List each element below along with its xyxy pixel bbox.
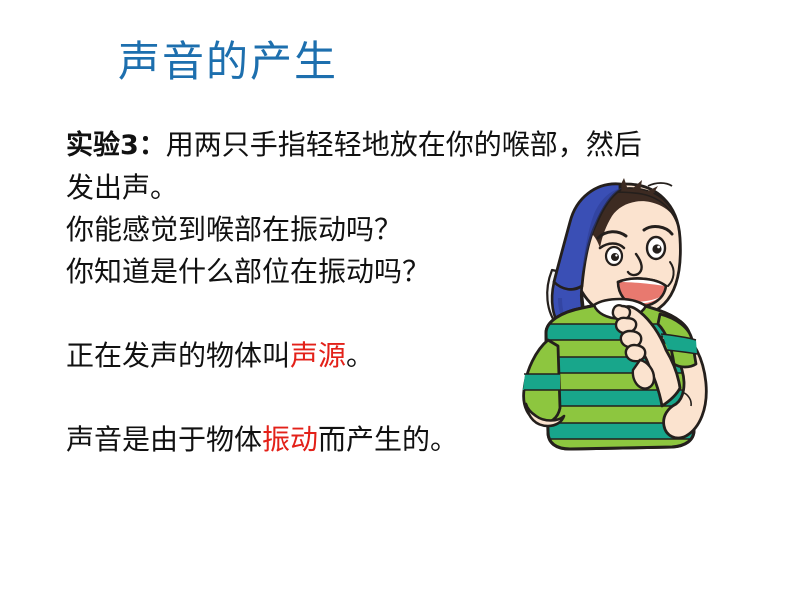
conclusion-post: 而产生的。	[318, 423, 458, 456]
boy-illustration-svg	[500, 178, 732, 464]
question-which-part: 你知道是什么部位在振动吗？	[66, 255, 430, 288]
keyword-sound-source: 声源	[290, 339, 346, 372]
slide-canvas: 声音的产生 实验3：用两只手指轻轻地放在你的喉部，然后 发出声。 你能感觉到喉部…	[0, 0, 800, 600]
body-line-1: 实验3：用两只手指轻轻地放在你的喉部，然后	[66, 124, 726, 167]
definition-sound-source-pre: 正在发声的物体叫	[66, 339, 290, 372]
keyword-vibration: 振动	[262, 423, 318, 456]
page-title: 声音的产生	[118, 36, 338, 88]
conclusion-pre: 声音是由于物体	[66, 423, 262, 456]
boy-touching-throat-illustration	[500, 178, 732, 464]
experiment-instruction: 用两只手指轻轻地放在你的喉部，然后	[166, 128, 642, 161]
experiment-instruction-cont: 发出声。	[66, 171, 178, 204]
definition-sound-source-post: 。	[346, 339, 374, 372]
question-feel-vibration: 你能感觉到喉部在振动吗？	[66, 213, 402, 246]
experiment-label: 实验3：	[66, 130, 166, 161]
left-arm	[523, 340, 564, 426]
